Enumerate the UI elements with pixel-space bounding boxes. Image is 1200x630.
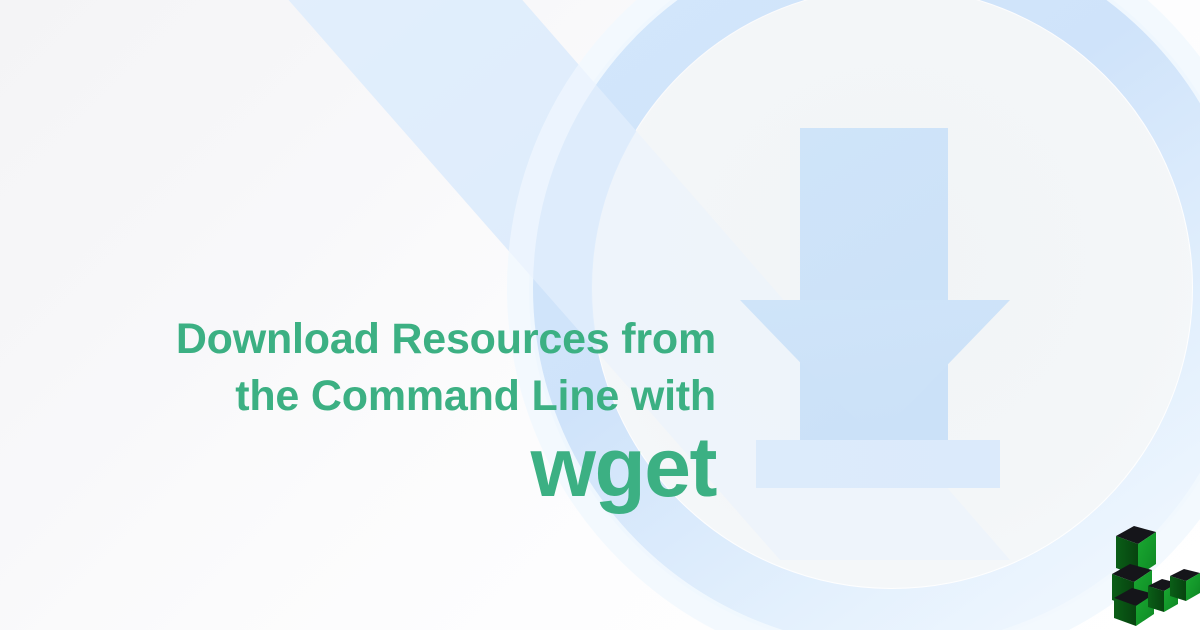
green-cubes-logo xyxy=(1108,518,1200,626)
banner-canvas: Download Resources from the Command Line… xyxy=(0,0,1200,630)
logo-cube-5 xyxy=(1170,569,1200,601)
headline-line-2: the Command Line with xyxy=(0,375,716,418)
headline-line-1: Download Resources from xyxy=(0,318,716,361)
headline-keyword-wget: wget xyxy=(0,428,716,508)
headline-block: Download Resources from the Command Line… xyxy=(0,318,716,508)
